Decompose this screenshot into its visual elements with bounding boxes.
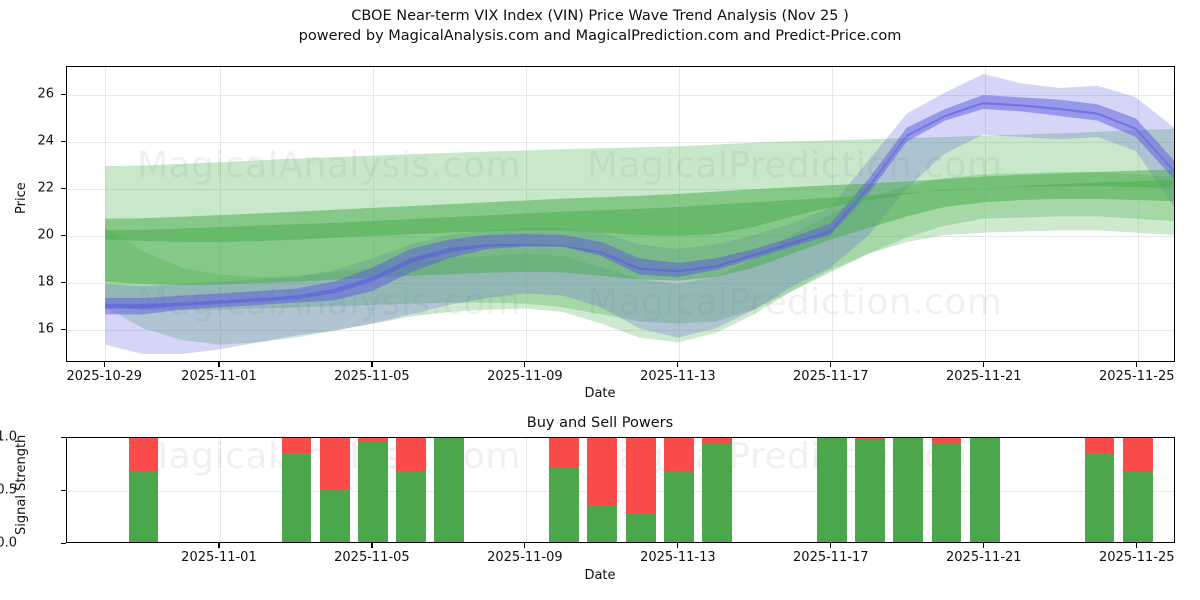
power-bar[interactable] bbox=[664, 437, 694, 542]
price-x-tick-label: 2025-11-17 bbox=[793, 369, 869, 384]
price-y-tick-mark bbox=[61, 141, 66, 142]
buy-segment bbox=[702, 444, 732, 542]
price-y-tick-label: 26 bbox=[37, 87, 54, 102]
price-x-tick-label: 2025-11-25 bbox=[1099, 369, 1175, 384]
sell-segment bbox=[396, 437, 426, 471]
price-y-tick-label: 16 bbox=[37, 322, 54, 337]
power-x-tick-mark bbox=[983, 543, 984, 548]
price-x-tick-mark bbox=[104, 362, 105, 367]
buy-segment bbox=[1085, 453, 1115, 542]
power-bar[interactable] bbox=[1123, 437, 1153, 542]
power-bar[interactable] bbox=[626, 437, 656, 542]
buy-segment bbox=[549, 467, 579, 542]
price-x-axis-label: Date bbox=[0, 386, 1200, 401]
price-x-tick-mark bbox=[524, 362, 525, 367]
buy-segment bbox=[970, 437, 1000, 542]
power-bar[interactable] bbox=[434, 437, 464, 542]
buy-segment bbox=[129, 471, 159, 542]
price-x-tick-label: 2025-11-13 bbox=[640, 369, 716, 384]
buy-segment bbox=[817, 437, 847, 542]
power-bar[interactable] bbox=[855, 437, 885, 542]
power-y-tick-label: 0.0 bbox=[0, 536, 17, 551]
buy-segment bbox=[320, 489, 350, 542]
power-chart-title: Buy and Sell Powers bbox=[0, 415, 1200, 431]
chart-title-block: CBOE Near-term VIX Index (VIN) Price Wav… bbox=[0, 6, 1200, 46]
price-x-tick-mark bbox=[983, 362, 984, 367]
power-x-tick-mark bbox=[830, 543, 831, 548]
buy-segment bbox=[893, 437, 923, 542]
price-y-tick-mark bbox=[61, 235, 66, 236]
power-x-tick-label: 2025-11-01 bbox=[181, 550, 257, 565]
buy-segment bbox=[587, 506, 617, 542]
power-x-tick-mark bbox=[677, 543, 678, 548]
buy-segment bbox=[434, 437, 464, 542]
gridline-h bbox=[67, 491, 1174, 492]
sell-segment bbox=[626, 437, 656, 513]
buy-segment bbox=[932, 443, 962, 542]
power-y-tick-mark bbox=[61, 490, 66, 491]
page-subtitle: powered by MagicalAnalysis.com and Magic… bbox=[0, 26, 1200, 46]
gridline-v bbox=[526, 438, 527, 542]
power-x-tick-mark bbox=[1136, 543, 1137, 548]
sell-segment bbox=[664, 437, 694, 471]
price-y-tick-label: 18 bbox=[37, 275, 54, 290]
sell-segment bbox=[1085, 437, 1115, 453]
power-chart-plot-area: MagicalAnalysis.comMagicalPrediction.com bbox=[66, 437, 1175, 543]
buy-segment bbox=[358, 441, 388, 542]
power-x-tick-label: 2025-11-09 bbox=[487, 550, 563, 565]
price-x-tick-mark bbox=[218, 362, 219, 367]
price-y-tick-label: 20 bbox=[37, 228, 54, 243]
power-bar[interactable] bbox=[396, 437, 426, 542]
price-y-tick-mark bbox=[61, 188, 66, 189]
power-y-tick-mark bbox=[61, 543, 66, 544]
power-bar[interactable] bbox=[817, 437, 847, 542]
price-chart-plot-area: MagicalAnalysis.comMagicalPrediction.com… bbox=[66, 66, 1175, 362]
price-x-tick-mark bbox=[830, 362, 831, 367]
power-bar[interactable] bbox=[129, 437, 159, 542]
power-bar[interactable] bbox=[932, 437, 962, 542]
buy-segment bbox=[282, 453, 312, 542]
price-bands bbox=[67, 67, 1174, 361]
price-x-tick-label: 2025-11-21 bbox=[946, 369, 1022, 384]
price-y-tick-mark bbox=[61, 282, 66, 283]
sell-segment bbox=[129, 437, 159, 471]
sell-segment bbox=[702, 437, 732, 444]
price-x-tick-mark bbox=[1136, 362, 1137, 367]
power-bar[interactable] bbox=[358, 437, 388, 542]
buy-segment bbox=[396, 471, 426, 542]
buy-segment bbox=[664, 471, 694, 542]
power-bar[interactable] bbox=[320, 437, 350, 542]
power-bar[interactable] bbox=[970, 437, 1000, 542]
power-x-tick-label: 2025-11-25 bbox=[1099, 550, 1175, 565]
buy-segment bbox=[626, 513, 656, 542]
sell-segment bbox=[320, 437, 350, 489]
price-x-tick-mark bbox=[371, 362, 372, 367]
sell-segment bbox=[282, 437, 312, 453]
buy-segment bbox=[1123, 472, 1153, 542]
power-bar[interactable] bbox=[893, 437, 923, 542]
price-y-tick-mark bbox=[61, 94, 66, 95]
chart-page: CBOE Near-term VIX Index (VIN) Price Wav… bbox=[0, 0, 1200, 600]
price-x-tick-label: 2025-11-01 bbox=[181, 369, 257, 384]
power-bar[interactable] bbox=[549, 437, 579, 542]
price-x-tick-label: 2025-10-29 bbox=[66, 369, 142, 384]
price-y-tick-mark bbox=[61, 329, 66, 330]
power-x-tick-label: 2025-11-17 bbox=[793, 550, 869, 565]
power-x-tick-label: 2025-11-21 bbox=[946, 550, 1022, 565]
power-x-tick-label: 2025-11-05 bbox=[334, 550, 410, 565]
power-bar[interactable] bbox=[702, 437, 732, 542]
power-x-tick-label: 2025-11-13 bbox=[640, 550, 716, 565]
price-x-tick-label: 2025-11-05 bbox=[334, 369, 410, 384]
price-x-tick-label: 2025-11-09 bbox=[487, 369, 563, 384]
page-title: CBOE Near-term VIX Index (VIN) Price Wav… bbox=[0, 6, 1200, 26]
power-y-tick-mark bbox=[61, 437, 66, 438]
power-bar[interactable] bbox=[587, 437, 617, 542]
price-x-tick-mark bbox=[677, 362, 678, 367]
power-y-axis-label: Signal Strength bbox=[14, 435, 29, 535]
sell-segment bbox=[587, 437, 617, 506]
sell-segment bbox=[549, 437, 579, 467]
power-x-tick-mark bbox=[524, 543, 525, 548]
power-x-tick-mark bbox=[371, 543, 372, 548]
power-x-tick-mark bbox=[218, 543, 219, 548]
sell-segment bbox=[1123, 437, 1153, 472]
gridline-v bbox=[220, 438, 221, 542]
buy-segment bbox=[855, 439, 885, 542]
price-y-tick-label: 22 bbox=[37, 181, 54, 196]
price-y-tick-label: 24 bbox=[37, 134, 54, 149]
power-x-axis-label: Date bbox=[0, 568, 1200, 583]
price-y-axis-label: Price bbox=[14, 182, 29, 214]
power-bar[interactable] bbox=[282, 437, 312, 542]
power-bar[interactable] bbox=[1085, 437, 1115, 542]
